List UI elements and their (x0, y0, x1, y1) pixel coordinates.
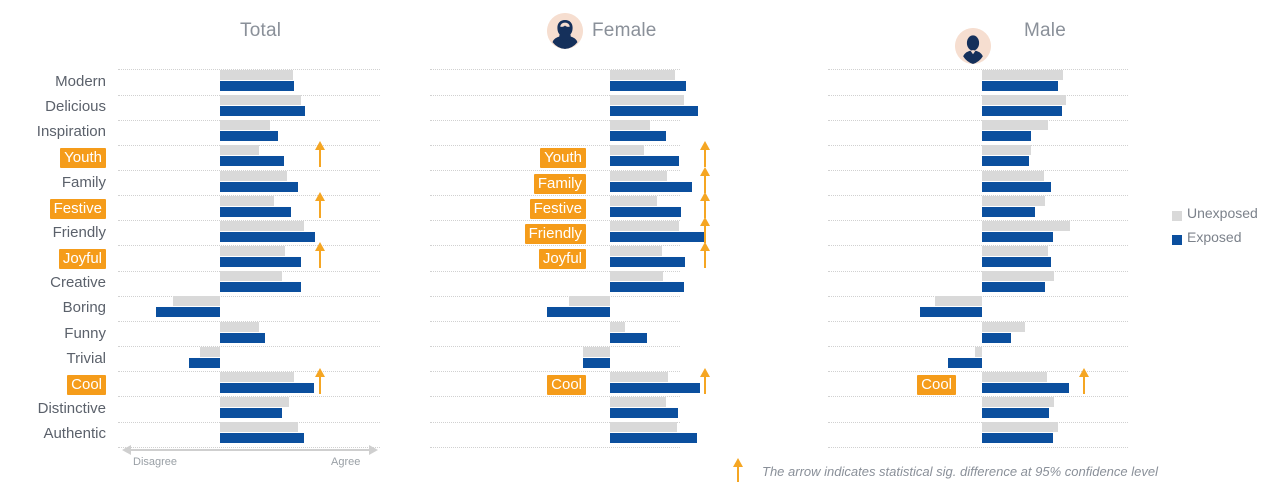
row-label-female-joyful: Joyful (539, 249, 586, 269)
bar-male-friendly-unexposed (982, 221, 1070, 231)
row-label-joyful: Joyful (59, 249, 106, 269)
row-label-modern: Modern (0, 73, 106, 91)
gridline (828, 321, 1128, 322)
bar-total-family-exposed (220, 182, 298, 192)
gridline (828, 422, 1128, 423)
row-label-female-friendly: Friendly (525, 224, 586, 244)
row-label-male-cool: Cool (917, 375, 956, 395)
bar-female-joyful-exposed (610, 257, 685, 267)
row-label-creative: Creative (0, 274, 106, 292)
bar-male-youth-exposed (982, 156, 1029, 166)
gridline (430, 447, 680, 448)
gridline (828, 396, 1128, 397)
axis-label-agree: Agree (331, 456, 360, 468)
scale-axis-cap-left (122, 445, 131, 455)
row-label-funny: Funny (0, 325, 106, 343)
row-label-family: Family (0, 174, 106, 192)
bar-total-inspiration-unexposed (220, 120, 270, 130)
bar-female-modern-unexposed (610, 70, 675, 80)
gridline (828, 245, 1128, 246)
bar-female-friendly-exposed (610, 232, 705, 242)
gridline (118, 296, 380, 297)
bar-female-inspiration-exposed (610, 131, 666, 141)
row-label-authentic: Authentic (0, 425, 106, 443)
bar-female-festive-unexposed (610, 196, 657, 206)
bar-male-funny-unexposed (982, 322, 1025, 332)
bar-total-cool-unexposed (220, 372, 294, 382)
row-label-female-family: Family (534, 174, 586, 194)
bar-male-distinctive-unexposed (982, 397, 1054, 407)
bar-male-joyful-unexposed (982, 246, 1048, 256)
bar-male-trivial-exposed (948, 358, 982, 368)
bar-total-friendly-unexposed (220, 221, 304, 231)
gridline (828, 120, 1128, 121)
bar-female-boring-unexposed (569, 296, 610, 306)
bar-total-creative-exposed (220, 282, 301, 292)
bar-female-family-unexposed (610, 171, 667, 181)
row-label-friendly: Friendly (0, 224, 106, 242)
significance-arrow-female-family (700, 167, 710, 193)
bar-female-family-exposed (610, 182, 692, 192)
gridline (828, 271, 1128, 272)
bar-male-modern-unexposed (982, 70, 1063, 80)
row-label-boring: Boring (0, 299, 106, 317)
bar-total-authentic-exposed (220, 433, 304, 443)
female-avatar-icon (547, 13, 583, 49)
bar-female-festive-exposed (610, 207, 681, 217)
bar-male-cool-exposed (982, 383, 1069, 393)
bar-male-creative-exposed (982, 282, 1045, 292)
bar-male-youth-unexposed (982, 145, 1031, 155)
panel-title-female: Female (592, 20, 657, 42)
legend-swatch-unexposed (1172, 211, 1182, 221)
bar-male-cool-unexposed (982, 372, 1047, 382)
bar-male-funny-exposed (982, 333, 1011, 343)
row-label-female-cool: Cool (547, 375, 586, 395)
significance-arrow-total-joyful (315, 242, 325, 268)
bar-male-festive-exposed (982, 207, 1035, 217)
gridline (430, 296, 680, 297)
bar-female-friendly-unexposed (610, 221, 679, 231)
bar-total-distinctive-unexposed (220, 397, 289, 407)
bar-male-modern-exposed (982, 81, 1058, 91)
row-label-female-youth: Youth (540, 148, 586, 168)
legend-swatch-exposed (1172, 235, 1182, 245)
bar-male-inspiration-exposed (982, 131, 1031, 141)
gridline (828, 170, 1128, 171)
significance-arrow-female-cool (700, 368, 710, 394)
bar-total-distinctive-exposed (220, 408, 282, 418)
row-label-female-festive: Festive (530, 199, 586, 219)
significance-arrow-female-friendly (700, 217, 710, 243)
bar-total-festive-unexposed (220, 196, 274, 206)
significance-arrow-male-cool (1079, 368, 1089, 394)
bar-female-funny-unexposed (610, 322, 625, 332)
bar-female-trivial-exposed (583, 358, 610, 368)
bar-male-delicious-exposed (982, 106, 1062, 116)
bar-female-authentic-exposed (610, 433, 697, 443)
significance-arrow-female-festive (700, 192, 710, 218)
row-label-trivial: Trivial (0, 350, 106, 368)
bar-total-youth-unexposed (220, 145, 259, 155)
row-label-youth: Youth (60, 148, 106, 168)
bar-total-delicious-exposed (220, 106, 305, 116)
bar-female-joyful-unexposed (610, 246, 662, 256)
bar-total-modern-exposed (220, 81, 294, 91)
bar-total-festive-exposed (220, 207, 291, 217)
gridline (828, 447, 1128, 448)
gridline (828, 220, 1128, 221)
row-label-inspiration: Inspiration (0, 123, 106, 141)
significance-arrow-total-youth (315, 141, 325, 167)
bar-male-joyful-exposed (982, 257, 1051, 267)
gridline (118, 346, 380, 347)
gridline (430, 321, 680, 322)
bar-total-boring-exposed (156, 307, 220, 317)
gridline (430, 346, 680, 347)
row-label-distinctive: Distinctive (0, 400, 106, 418)
bar-male-distinctive-exposed (982, 408, 1049, 418)
significance-arrow-total-festive (315, 192, 325, 218)
bar-female-youth-exposed (610, 156, 679, 166)
bar-female-creative-unexposed (610, 271, 663, 281)
bar-total-authentic-unexposed (220, 422, 298, 432)
row-label-cool: Cool (67, 375, 106, 395)
scale-axis-line (130, 449, 370, 451)
scale-axis-cap-right (369, 445, 378, 455)
gridline (828, 145, 1128, 146)
legend-label-exposed: Exposed (1187, 229, 1241, 245)
bar-female-distinctive-exposed (610, 408, 678, 418)
bar-male-family-exposed (982, 182, 1051, 192)
bar-total-youth-exposed (220, 156, 284, 166)
bar-male-authentic-unexposed (982, 422, 1058, 432)
bar-total-creative-unexposed (220, 271, 282, 281)
bar-female-delicious-unexposed (610, 95, 684, 105)
bar-female-youth-unexposed (610, 145, 644, 155)
significance-arrow-female-youth (700, 141, 710, 167)
bar-male-festive-unexposed (982, 196, 1045, 206)
panel-title-total: Total (240, 20, 281, 42)
bar-total-friendly-exposed (220, 232, 315, 242)
bar-total-boring-unexposed (173, 296, 220, 306)
bar-total-inspiration-exposed (220, 131, 278, 141)
bar-female-modern-exposed (610, 81, 686, 91)
bar-total-cool-exposed (220, 383, 314, 393)
axis-label-disagree: Disagree (133, 456, 177, 468)
bar-male-family-unexposed (982, 171, 1044, 181)
bar-female-delicious-exposed (610, 106, 698, 116)
gridline (828, 69, 1128, 70)
significance-arrow-total-cool (315, 368, 325, 394)
bar-male-creative-unexposed (982, 271, 1054, 281)
bar-female-authentic-unexposed (610, 422, 677, 432)
male-avatar-icon (955, 28, 991, 64)
bar-female-cool-exposed (610, 383, 700, 393)
bar-female-creative-exposed (610, 282, 684, 292)
bar-total-funny-exposed (220, 333, 265, 343)
footnote-arrow-icon (733, 458, 743, 484)
bar-total-delicious-unexposed (220, 95, 301, 105)
bar-female-distinctive-unexposed (610, 397, 666, 407)
gridline (118, 447, 380, 448)
legend-label-unexposed: Unexposed (1187, 205, 1258, 221)
bar-male-boring-unexposed (935, 296, 982, 306)
significance-arrow-female-joyful (700, 242, 710, 268)
gridline (828, 95, 1128, 96)
bar-female-funny-exposed (610, 333, 647, 343)
bar-male-authentic-exposed (982, 433, 1053, 443)
chart-canvas: TotalFemaleMaleModernDeliciousInspiratio… (0, 0, 1267, 490)
row-label-delicious: Delicious (0, 98, 106, 116)
bar-total-trivial-unexposed (200, 347, 220, 357)
bar-female-boring-exposed (547, 307, 610, 317)
bar-female-trivial-unexposed (583, 347, 610, 357)
bar-total-family-unexposed (220, 171, 287, 181)
bar-female-inspiration-unexposed (610, 120, 650, 130)
bar-total-joyful-exposed (220, 257, 301, 267)
bar-total-trivial-exposed (189, 358, 220, 368)
gridline (828, 195, 1128, 196)
bar-total-joyful-unexposed (220, 246, 285, 256)
row-label-festive: Festive (50, 199, 106, 219)
bar-total-funny-unexposed (220, 322, 259, 332)
bar-male-friendly-exposed (982, 232, 1053, 242)
bar-male-boring-exposed (920, 307, 982, 317)
bar-female-cool-unexposed (610, 372, 668, 382)
bar-male-delicious-unexposed (982, 95, 1066, 105)
bar-male-inspiration-unexposed (982, 120, 1048, 130)
bar-male-trivial-unexposed (975, 347, 982, 357)
panel-title-male: Male (1024, 20, 1066, 42)
bar-total-modern-unexposed (220, 70, 293, 80)
footnote-text: The arrow indicates statistical sig. dif… (762, 464, 1158, 479)
